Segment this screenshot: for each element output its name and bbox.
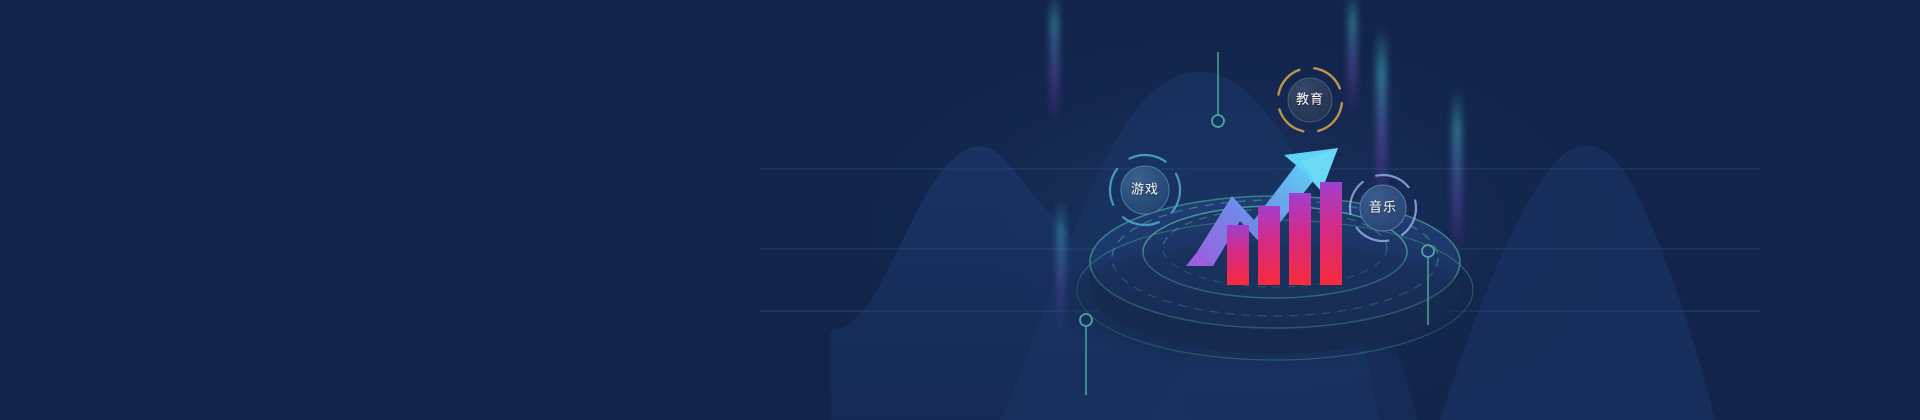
light-beam xyxy=(1377,26,1386,208)
hero-banner: 游戏 教育 音乐 xyxy=(0,0,1920,420)
bar-2 xyxy=(1258,206,1280,285)
bar-3 xyxy=(1289,193,1311,285)
light-beam xyxy=(1453,88,1461,256)
light-beam xyxy=(1349,0,1356,115)
light-beam xyxy=(1051,0,1058,125)
badge-games-disc xyxy=(1121,166,1169,214)
banner-illustration xyxy=(0,0,1920,420)
bar-4 xyxy=(1320,182,1342,285)
badge-music-disc xyxy=(1360,185,1406,231)
badge-education-disc xyxy=(1288,78,1332,122)
bar-1 xyxy=(1227,225,1249,285)
light-beam xyxy=(1058,198,1064,333)
